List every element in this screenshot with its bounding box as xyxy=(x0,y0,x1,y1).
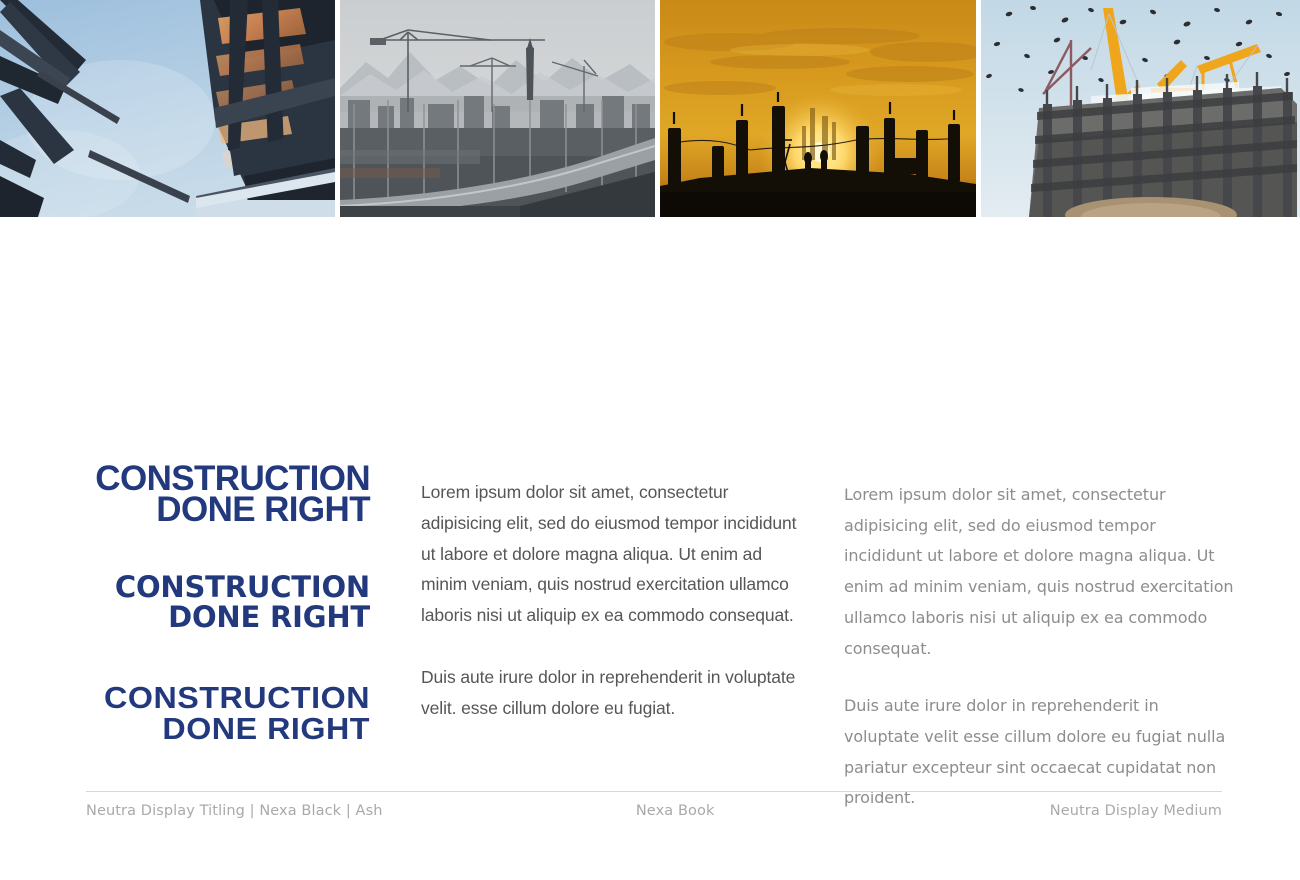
hero-photo-city-skyline-tower-cranes xyxy=(340,0,655,217)
heading-specimen-ash: Construction Done Right xyxy=(86,682,370,744)
heading-specimen-neutra-display-titling: Construction Done Right xyxy=(86,463,370,525)
heading-line-1: Construction xyxy=(75,682,370,713)
footer-divider xyxy=(86,791,1222,792)
body-paragraph: Lorem ipsum dolor sit amet, consectetur … xyxy=(844,480,1234,664)
hero-photo-sunset-construction-silhouette xyxy=(660,0,976,217)
body-column-nexa-book: Lorem ipsum dolor sit amet, consectetur … xyxy=(421,455,811,724)
heading-line-2: Done Right xyxy=(86,494,370,525)
heading-line-1: Construction xyxy=(94,572,370,602)
headings-column: Construction Done Right Construction Don… xyxy=(86,455,421,744)
typography-specimen-area: Construction Done Right Construction Don… xyxy=(86,455,1222,814)
heading-specimen-nexa-black: Construction Done Right xyxy=(86,572,370,632)
body-paragraph: Lorem ipsum dolor sit amet, consectetur … xyxy=(421,477,811,631)
body-paragraph: Duis aute irure dolor in reprehenderit i… xyxy=(844,691,1234,814)
heading-line-2: Done Right xyxy=(94,602,370,632)
footer-typeface-labels: Neutra Display Titling | Nexa Black | As… xyxy=(86,803,1222,819)
hero-photo-steel-scaffolding-upward-view xyxy=(0,0,335,217)
footer-label-headings: Neutra Display Titling | Nexa Black | As… xyxy=(86,803,383,819)
hero-image-strip xyxy=(0,0,1300,217)
footer-label-body: Nexa Book xyxy=(383,803,1050,819)
body-paragraph: Duis aute irure dolor in reprehenderit i… xyxy=(421,662,811,724)
hero-photo-yellow-cranes-birds xyxy=(981,0,1300,217)
heading-line-2: Done Right xyxy=(75,713,370,744)
body-column-neutra-display-medium: Lorem ipsum dolor sit amet, consectetur … xyxy=(844,455,1234,814)
footer-label-secondary: Neutra Display Medium xyxy=(1050,803,1222,819)
